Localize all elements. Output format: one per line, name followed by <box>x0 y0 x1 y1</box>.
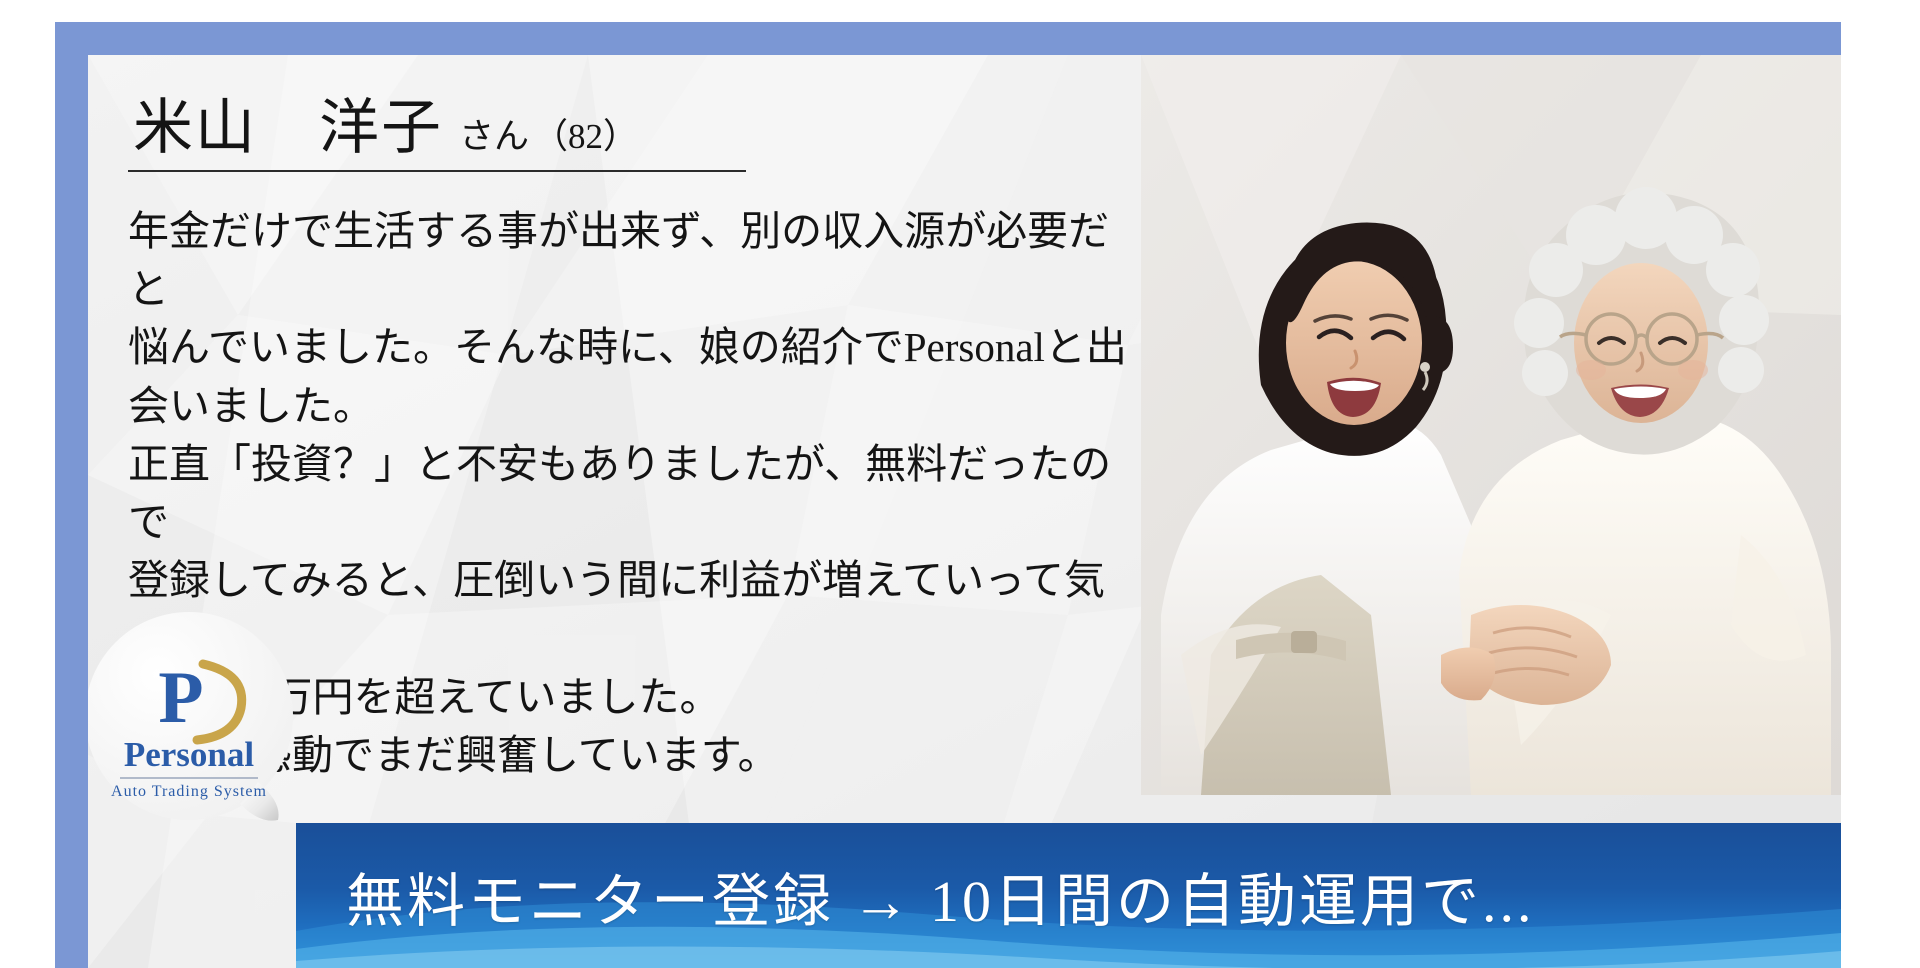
person-age: （82） <box>533 108 638 159</box>
name-underline-divider <box>128 170 746 172</box>
person-name: 米山 洋子 <box>133 97 443 160</box>
person-honorific: さん <box>459 108 529 159</box>
logo-monogram: P <box>158 657 203 739</box>
cta-banner-text: 無料モニター登録 → 10日間の自動運用で... <box>346 854 1535 938</box>
testimonial-name-row: 米山 洋子 さん （82） <box>128 97 1128 160</box>
testimonial-photo <box>1141 55 1841 795</box>
personal-logo-badge: P Personal Auto Trading System <box>88 606 307 841</box>
testimonial-card: 米山 洋子 さん （82） 年金だけで生活する事が出来ず、別の収入源が必要だと … <box>88 55 1841 968</box>
cta-banner[interactable]: 無料モニター登録 → 10日間の自動運用で... <box>296 823 1841 968</box>
logo-wordmark: Personal <box>124 735 255 774</box>
screenshot-root: 米山 洋子 さん （82） 年金だけで生活する事が出来ず、別の収入源が必要だと … <box>0 0 1920 968</box>
logo-tagline: Auto Trading System <box>111 783 267 800</box>
